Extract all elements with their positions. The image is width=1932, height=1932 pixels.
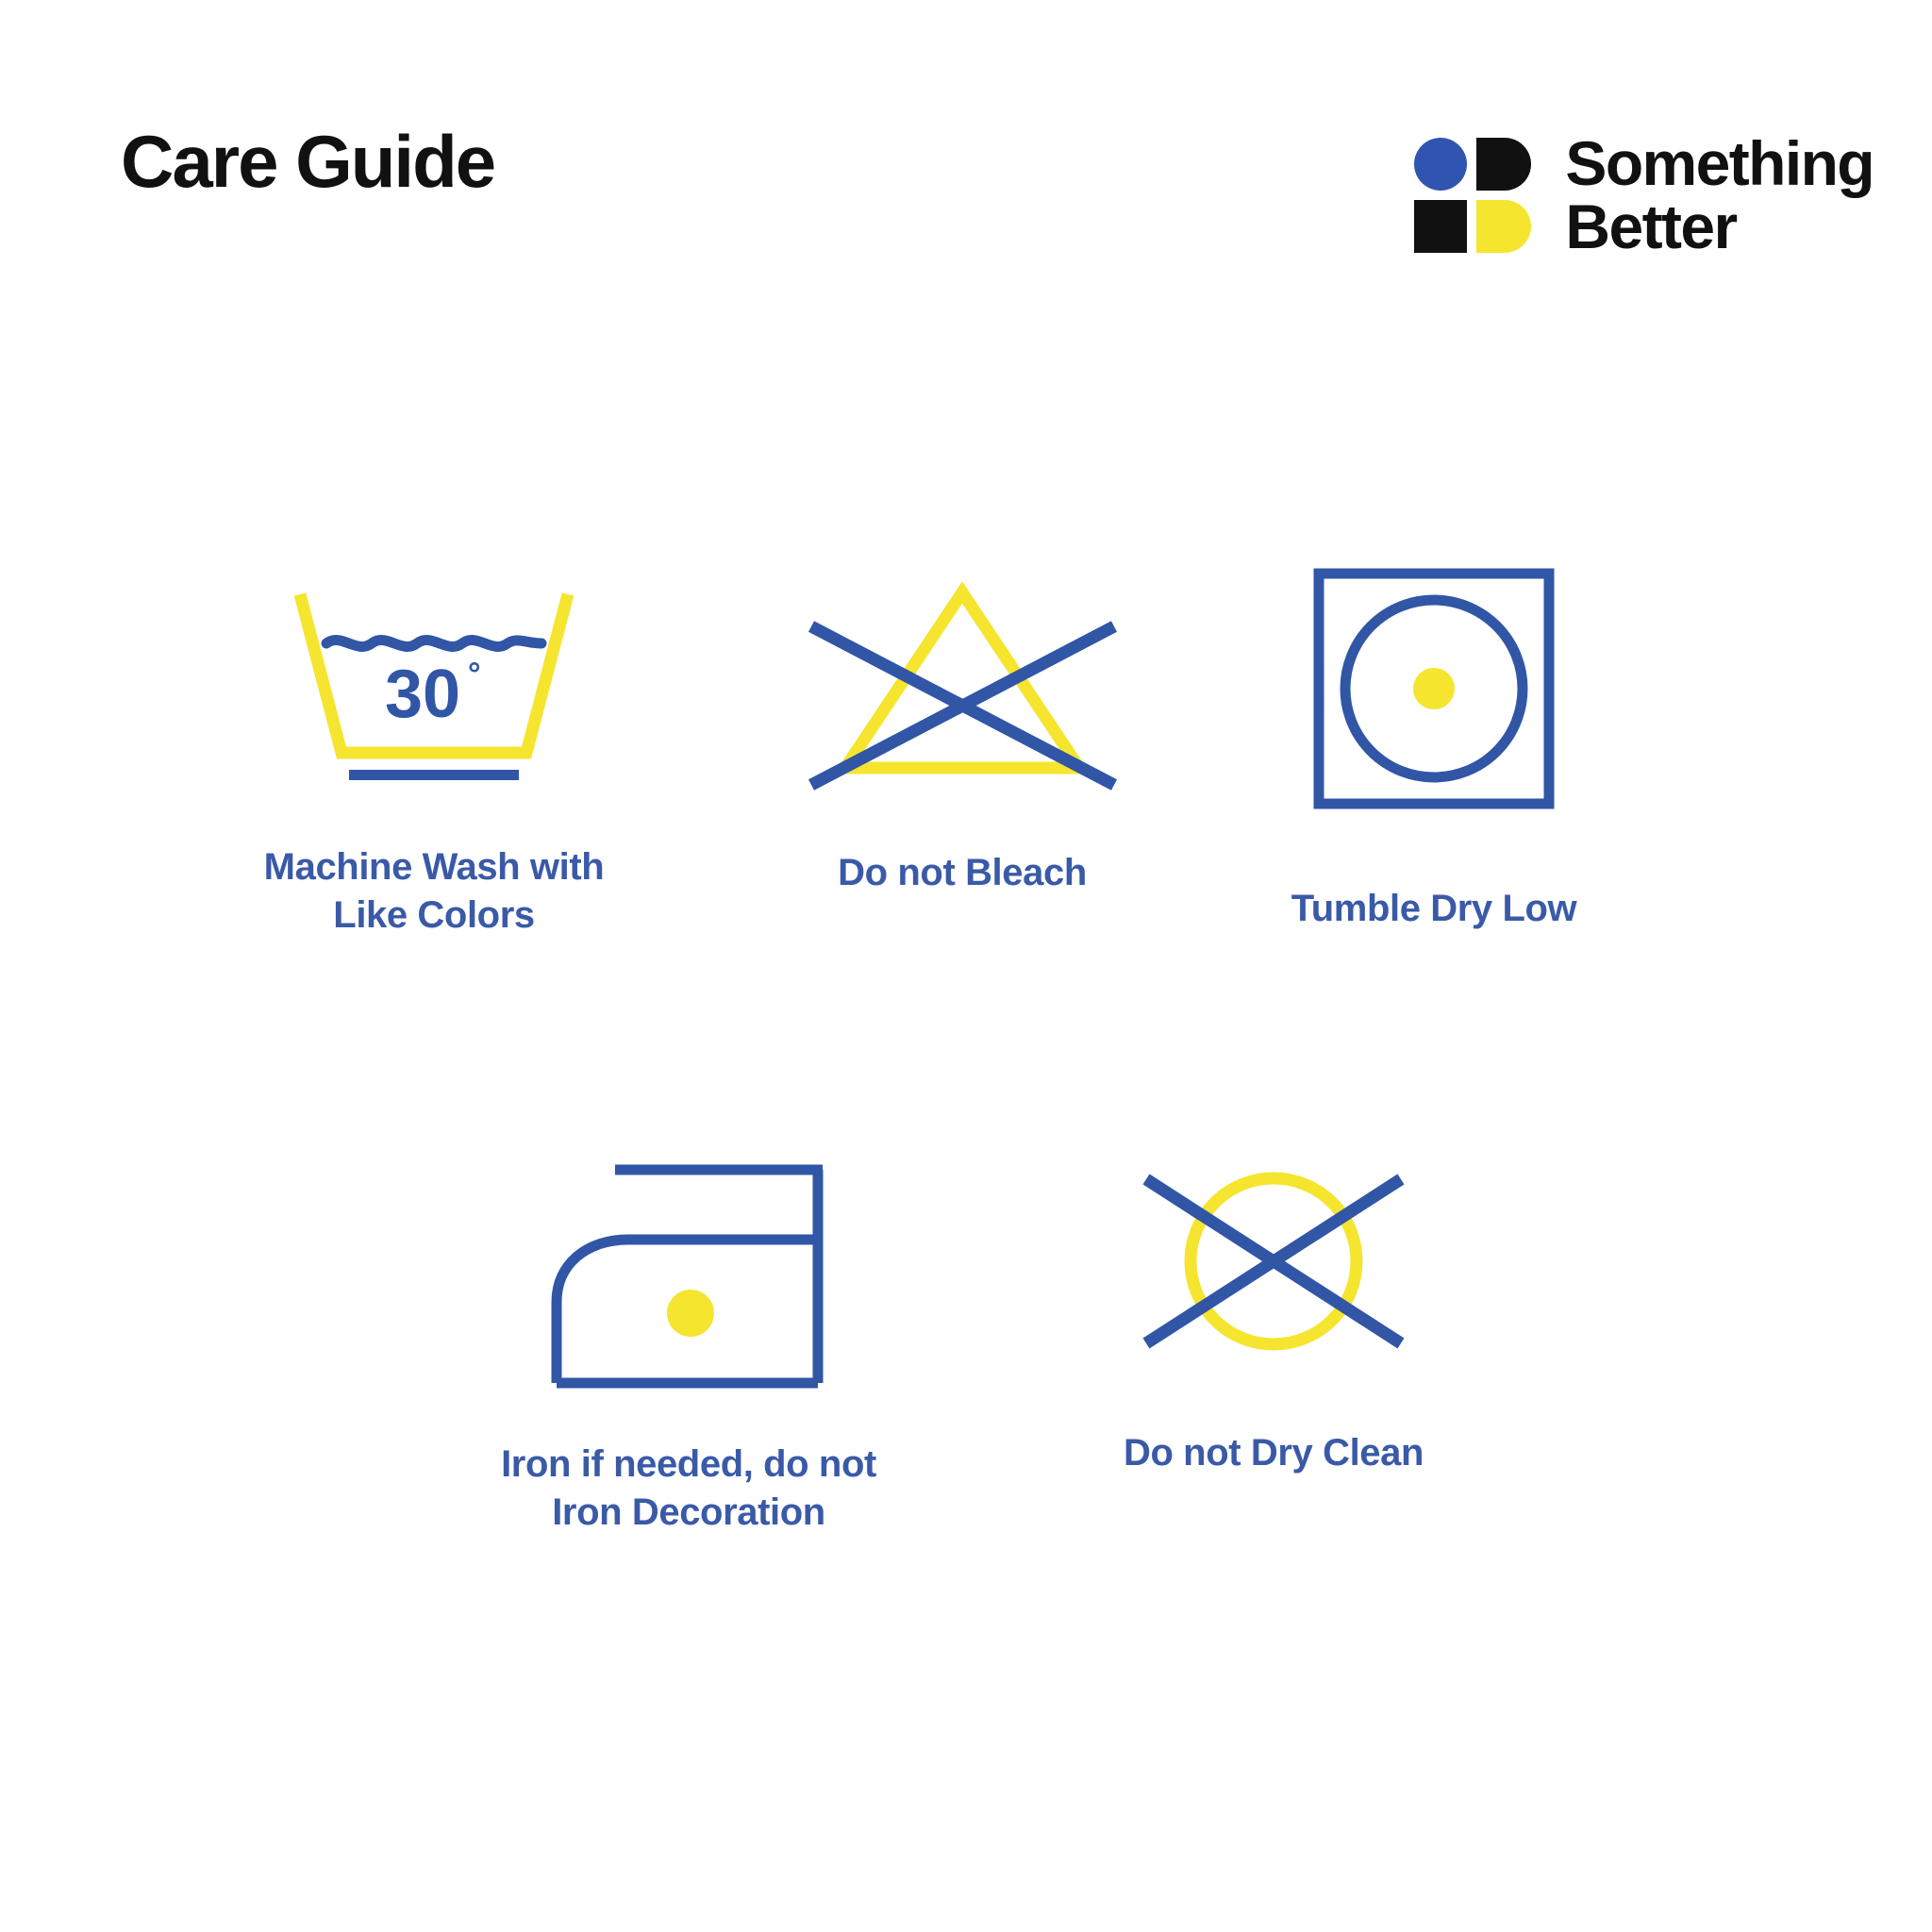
care-item-do-not-dry-clean: Do not Dry Clean (1019, 1160, 1528, 1477)
care-caption-iron: Iron if needed, do not Iron Decoration (501, 1441, 876, 1537)
wash-degree-symbol: ° (468, 657, 481, 692)
care-symbol-grid: 30 ° Machine Wash with Like Colors Do no… (0, 0, 1932, 1932)
wash-basin-icon: 30 ° (283, 585, 585, 802)
care-caption-machine-wash: Machine Wash with Like Colors (264, 843, 605, 940)
care-item-machine-wash: 30 ° Machine Wash with Like Colors (142, 585, 726, 940)
wash-temperature-value: 30 (385, 657, 460, 732)
care-item-iron: Iron if needed, do not Iron Decoration (415, 1160, 962, 1537)
care-caption-do-not-dry-clean: Do not Dry Clean (1124, 1429, 1424, 1477)
care-item-do-not-bleach: Do not Bleach (745, 585, 1179, 897)
care-caption-do-not-bleach: Do not Bleach (838, 849, 1087, 897)
care-caption-tumble-dry-low: Tumble Dry Low (1291, 885, 1577, 933)
square-circle-dot-icon (1311, 566, 1557, 811)
care-item-tumble-dry-low: Tumble Dry Low (1217, 566, 1651, 933)
triangle-crossed-icon (800, 585, 1125, 792)
iron-dot-icon (538, 1160, 840, 1391)
circle-crossed-icon (1137, 1160, 1410, 1363)
